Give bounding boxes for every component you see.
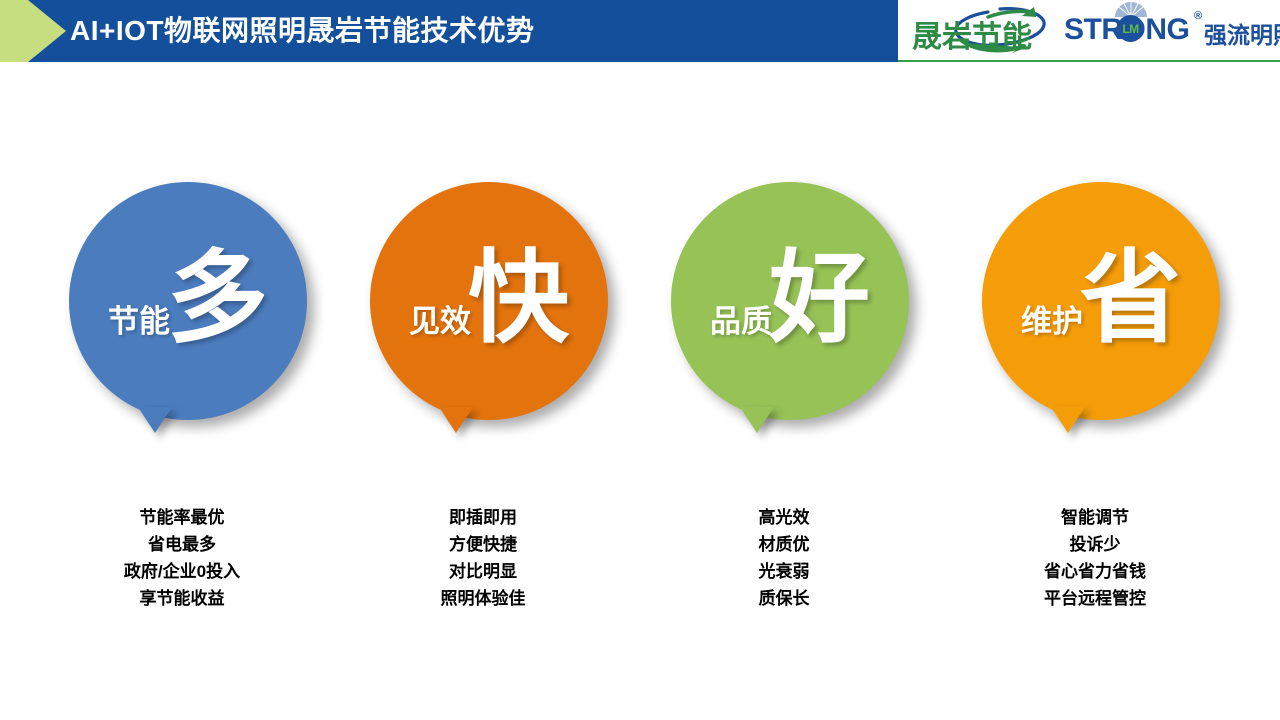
bullet-item: 政府/企业0投入 — [32, 558, 332, 585]
advantage-group-3: 品质 好 高光效 材质优 光衰弱 质保长 — [634, 182, 934, 702]
bubble-label-big: 好 — [769, 249, 870, 350]
bullet-list-3: 高光效 材质优 光衰弱 质保长 — [634, 504, 934, 612]
logo-brand-cn: 强流明照明 — [1204, 16, 1280, 50]
bubble-label: 品质 好 — [671, 182, 909, 420]
bullet-list-2: 即插即用 方便快捷 对比明显 照明体验佳 — [333, 504, 633, 612]
bubble-3: 品质 好 — [634, 182, 934, 482]
bullet-list-1: 节能率最优 省电最多 政府/企业0投入 享节能收益 — [32, 504, 332, 612]
bubble-label-small: 见效 — [409, 306, 471, 337]
page-title: AI+IOT物联网照明晟岩节能技术优势 — [70, 0, 535, 62]
advantage-group-2: 见效 快 即插即用 方便快捷 对比明显 照明体验佳 — [333, 182, 633, 702]
bullet-item: 高光效 — [634, 504, 934, 531]
advantage-group-4: 维护 省 智能调节 投诉少 省心省力省钱 平台远程管控 — [945, 182, 1245, 702]
bullet-item: 材质优 — [634, 531, 934, 558]
bullet-item: 省心省力省钱 — [945, 558, 1245, 585]
bullet-item: 方便快捷 — [333, 531, 633, 558]
bullet-item: 平台远程管控 — [945, 585, 1245, 612]
bullet-item: 智能调节 — [945, 504, 1245, 531]
bullet-item: 节能率最优 — [32, 504, 332, 531]
bubble-label-small: 品质 — [710, 306, 772, 337]
bubble-label-big: 多 — [167, 249, 268, 350]
bullet-item: 投诉少 — [945, 531, 1245, 558]
bullet-item: 对比明显 — [333, 558, 633, 585]
bubble-label: 见效 快 — [370, 182, 608, 420]
bullet-item: 即插即用 — [333, 504, 633, 531]
bullet-item: 光衰弱 — [634, 558, 934, 585]
bubble-label-small: 节能 — [108, 306, 170, 337]
bullet-item: 省电最多 — [32, 531, 332, 558]
bubble-label: 维护 省 — [982, 182, 1220, 420]
bubble-4: 维护 省 — [945, 182, 1245, 482]
logo-o-badge: LM — [1117, 15, 1144, 42]
bullet-item: 照明体验佳 — [333, 585, 633, 612]
logo-company-name-cn: 晟岩节能 — [912, 12, 1032, 56]
bullet-list-4: 智能调节 投诉少 省心省力省钱 平台远程管控 — [945, 504, 1245, 612]
logo-lm-text: LM — [1122, 23, 1138, 35]
registered-mark-icon: ® — [1194, 10, 1202, 22]
bullet-item: 质保长 — [634, 585, 934, 612]
bubble-1: 节能 多 — [32, 182, 332, 482]
bubble-label-small: 维护 — [1021, 306, 1083, 337]
bubble-label: 节能 多 — [69, 182, 307, 420]
bubble-2: 见效 快 — [333, 182, 633, 482]
brand-logo: 晟岩节能 STRONG — [898, 0, 1280, 62]
slide-body: 节能 多 节能率最优 省电最多 政府/企业0投入 享节能收益 见效 快 即插即用… — [0, 62, 1280, 720]
advantage-group-1: 节能 多 节能率最优 省电最多 政府/企业0投入 享节能收益 — [32, 182, 332, 702]
bullet-item: 享节能收益 — [32, 585, 332, 612]
bubble-label-big: 省 — [1080, 249, 1181, 350]
slide-header: AI+IOT物联网照明晟岩节能技术优势 晟岩节能 STRONG — [0, 0, 1280, 62]
bubble-label-big: 快 — [468, 249, 569, 350]
